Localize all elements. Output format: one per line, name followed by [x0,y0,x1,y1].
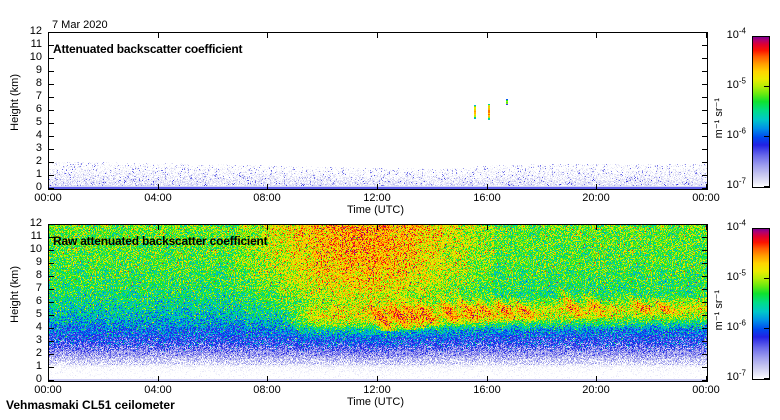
y-tick-label: 7 [36,283,42,294]
panel-raw-attenuated-backscatter: Raw attenuated backscatter coefficient [48,224,708,382]
x-tick-label: 08:00 [253,385,281,396]
y-axis-title-bottom: Height (km) [10,266,21,323]
y-tick [702,45,707,46]
colorbar-tick [764,378,769,379]
x-tick-label: 00:00 [34,385,62,396]
y-tick [49,380,54,381]
x-tick-label: 04:00 [144,385,172,396]
y-tick [49,149,54,150]
y-tick [49,136,54,137]
y-tick [49,84,54,85]
y-tick-label: 11 [31,231,42,242]
colorbar-tick-label: 10-5 [727,272,746,283]
y-tick-label: 12 [30,218,42,229]
y-tick-label: 5 [36,309,42,320]
x-tick [158,184,159,189]
y-tick [49,315,54,316]
x-tick [596,225,597,230]
x-tick [377,376,378,381]
y-tick-label: 10 [30,52,42,63]
y-tick [702,175,707,176]
y-tick [702,71,707,72]
x-tick [706,225,707,230]
y-tick-label: 3 [36,143,42,154]
y-tick-label: 5 [36,117,42,128]
x-tick-label: 04:00 [144,193,172,204]
x-tick [48,225,49,230]
y-tick-label: 1 [36,361,42,372]
y-axis-title-top: Height (km) [10,74,21,131]
x-tick [267,33,268,38]
colorbar-tick [764,186,769,187]
y-tick [702,58,707,59]
x-tick [48,33,49,38]
x-tick [596,184,597,189]
y-tick [702,354,707,355]
x-tick-label: 00:00 [692,193,720,204]
x-tick [267,225,268,230]
x-tick [487,225,488,230]
colorbar-tick [764,86,769,87]
y-tick-label: 10 [30,244,42,255]
y-tick-label: 1 [36,169,42,180]
y-tick-label: 8 [36,270,42,281]
x-tick-label: 16:00 [473,385,501,396]
x-tick [487,376,488,381]
y-tick-label: 11 [31,39,42,50]
colorbar-tick-label: 10-7 [727,180,746,191]
y-tick [49,328,54,329]
y-tick-label: 2 [36,156,42,167]
y-tick-label: 4 [36,130,42,141]
x-tick [267,184,268,189]
colorbar-top [752,36,770,188]
colorbar-tick-label: 10-4 [727,222,746,233]
y-tick [49,162,54,163]
y-tick [49,32,54,33]
panel-title-attenuated: Attenuated backscatter coefficient [53,44,242,55]
y-tick-label: 6 [36,104,42,115]
y-tick [49,123,54,124]
y-tick [49,367,54,368]
y-tick [702,341,707,342]
y-tick [702,162,707,163]
x-tick [158,225,159,230]
y-tick-label: 12 [30,26,42,37]
colorbar-bottom [752,228,770,380]
y-tick [49,354,54,355]
x-tick [706,184,707,189]
y-tick [49,188,54,189]
figure-caption: Vehmasmaki CL51 ceilometer [6,400,175,411]
y-tick [702,328,707,329]
colorbar-tick [764,36,769,37]
x-tick [377,225,378,230]
y-tick [49,276,54,277]
colorbar-title-top: m⁻¹ sr⁻¹ [714,98,725,138]
x-tick [48,184,49,189]
panel-attenuated-backscatter: Attenuated backscatter coefficient [48,32,708,190]
x-tick [48,376,49,381]
y-tick [49,250,54,251]
y-tick [702,84,707,85]
x-axis-title-bottom: Time (UTC) [347,397,404,408]
x-tick-label: 16:00 [473,193,501,204]
y-tick-label: 9 [36,65,42,76]
y-tick-label: 9 [36,257,42,268]
y-tick [702,315,707,316]
x-tick [487,33,488,38]
x-tick [596,376,597,381]
x-tick-label: 00:00 [34,193,62,204]
x-tick [487,184,488,189]
y-tick-label: 7 [36,91,42,102]
y-tick [702,289,707,290]
y-tick [49,341,54,342]
x-tick [706,376,707,381]
x-tick-label: 12:00 [363,193,391,204]
x-tick [267,376,268,381]
colorbar-tick [764,136,769,137]
y-tick [49,71,54,72]
y-tick [702,263,707,264]
x-tick-label: 12:00 [363,385,391,396]
x-tick-label: 08:00 [253,193,281,204]
ceilometer-figure: 7 Mar 2020 Attenuated backscatter coeffi… [0,0,780,420]
y-tick [702,97,707,98]
x-tick [377,33,378,38]
y-tick [702,123,707,124]
x-tick-label: 20:00 [582,385,610,396]
colorbar-tick [764,278,769,279]
colorbar-title-bottom: m⁻¹ sr⁻¹ [714,290,725,330]
y-tick [702,110,707,111]
y-tick [702,136,707,137]
y-tick [49,263,54,264]
y-tick [49,175,54,176]
colorbar-tick-label: 10-7 [727,372,746,383]
y-tick [702,237,707,238]
raw-attenuated-backscatter-heatmap [49,225,707,381]
y-tick [49,97,54,98]
date-stamp: 7 Mar 2020 [52,20,108,31]
y-tick [702,250,707,251]
x-tick [706,33,707,38]
y-tick [702,302,707,303]
x-tick-label: 00:00 [692,385,720,396]
y-tick [49,58,54,59]
y-tick-label: 3 [36,335,42,346]
y-tick [49,289,54,290]
y-tick [49,302,54,303]
x-tick [596,33,597,38]
y-tick [49,224,54,225]
colorbar-tick-label: 10-6 [727,130,746,141]
y-tick [702,367,707,368]
y-tick [702,149,707,150]
attenuated-backscatter-heatmap [49,33,707,189]
y-tick-label: 4 [36,322,42,333]
y-tick-label: 8 [36,78,42,89]
colorbar-tick [764,328,769,329]
x-tick [158,33,159,38]
y-tick-label: 6 [36,296,42,307]
y-tick [49,110,54,111]
panel-title-raw: Raw attenuated backscatter coefficient [53,236,267,247]
colorbar-tick [764,228,769,229]
x-tick [158,376,159,381]
x-tick [377,184,378,189]
colorbar-tick-label: 10-6 [727,322,746,333]
colorbar-tick-label: 10-4 [727,30,746,41]
x-axis-title-top: Time (UTC) [347,205,404,216]
colorbar-tick-label: 10-5 [727,80,746,91]
y-tick-label: 2 [36,348,42,359]
y-tick [702,276,707,277]
x-tick-label: 20:00 [582,193,610,204]
